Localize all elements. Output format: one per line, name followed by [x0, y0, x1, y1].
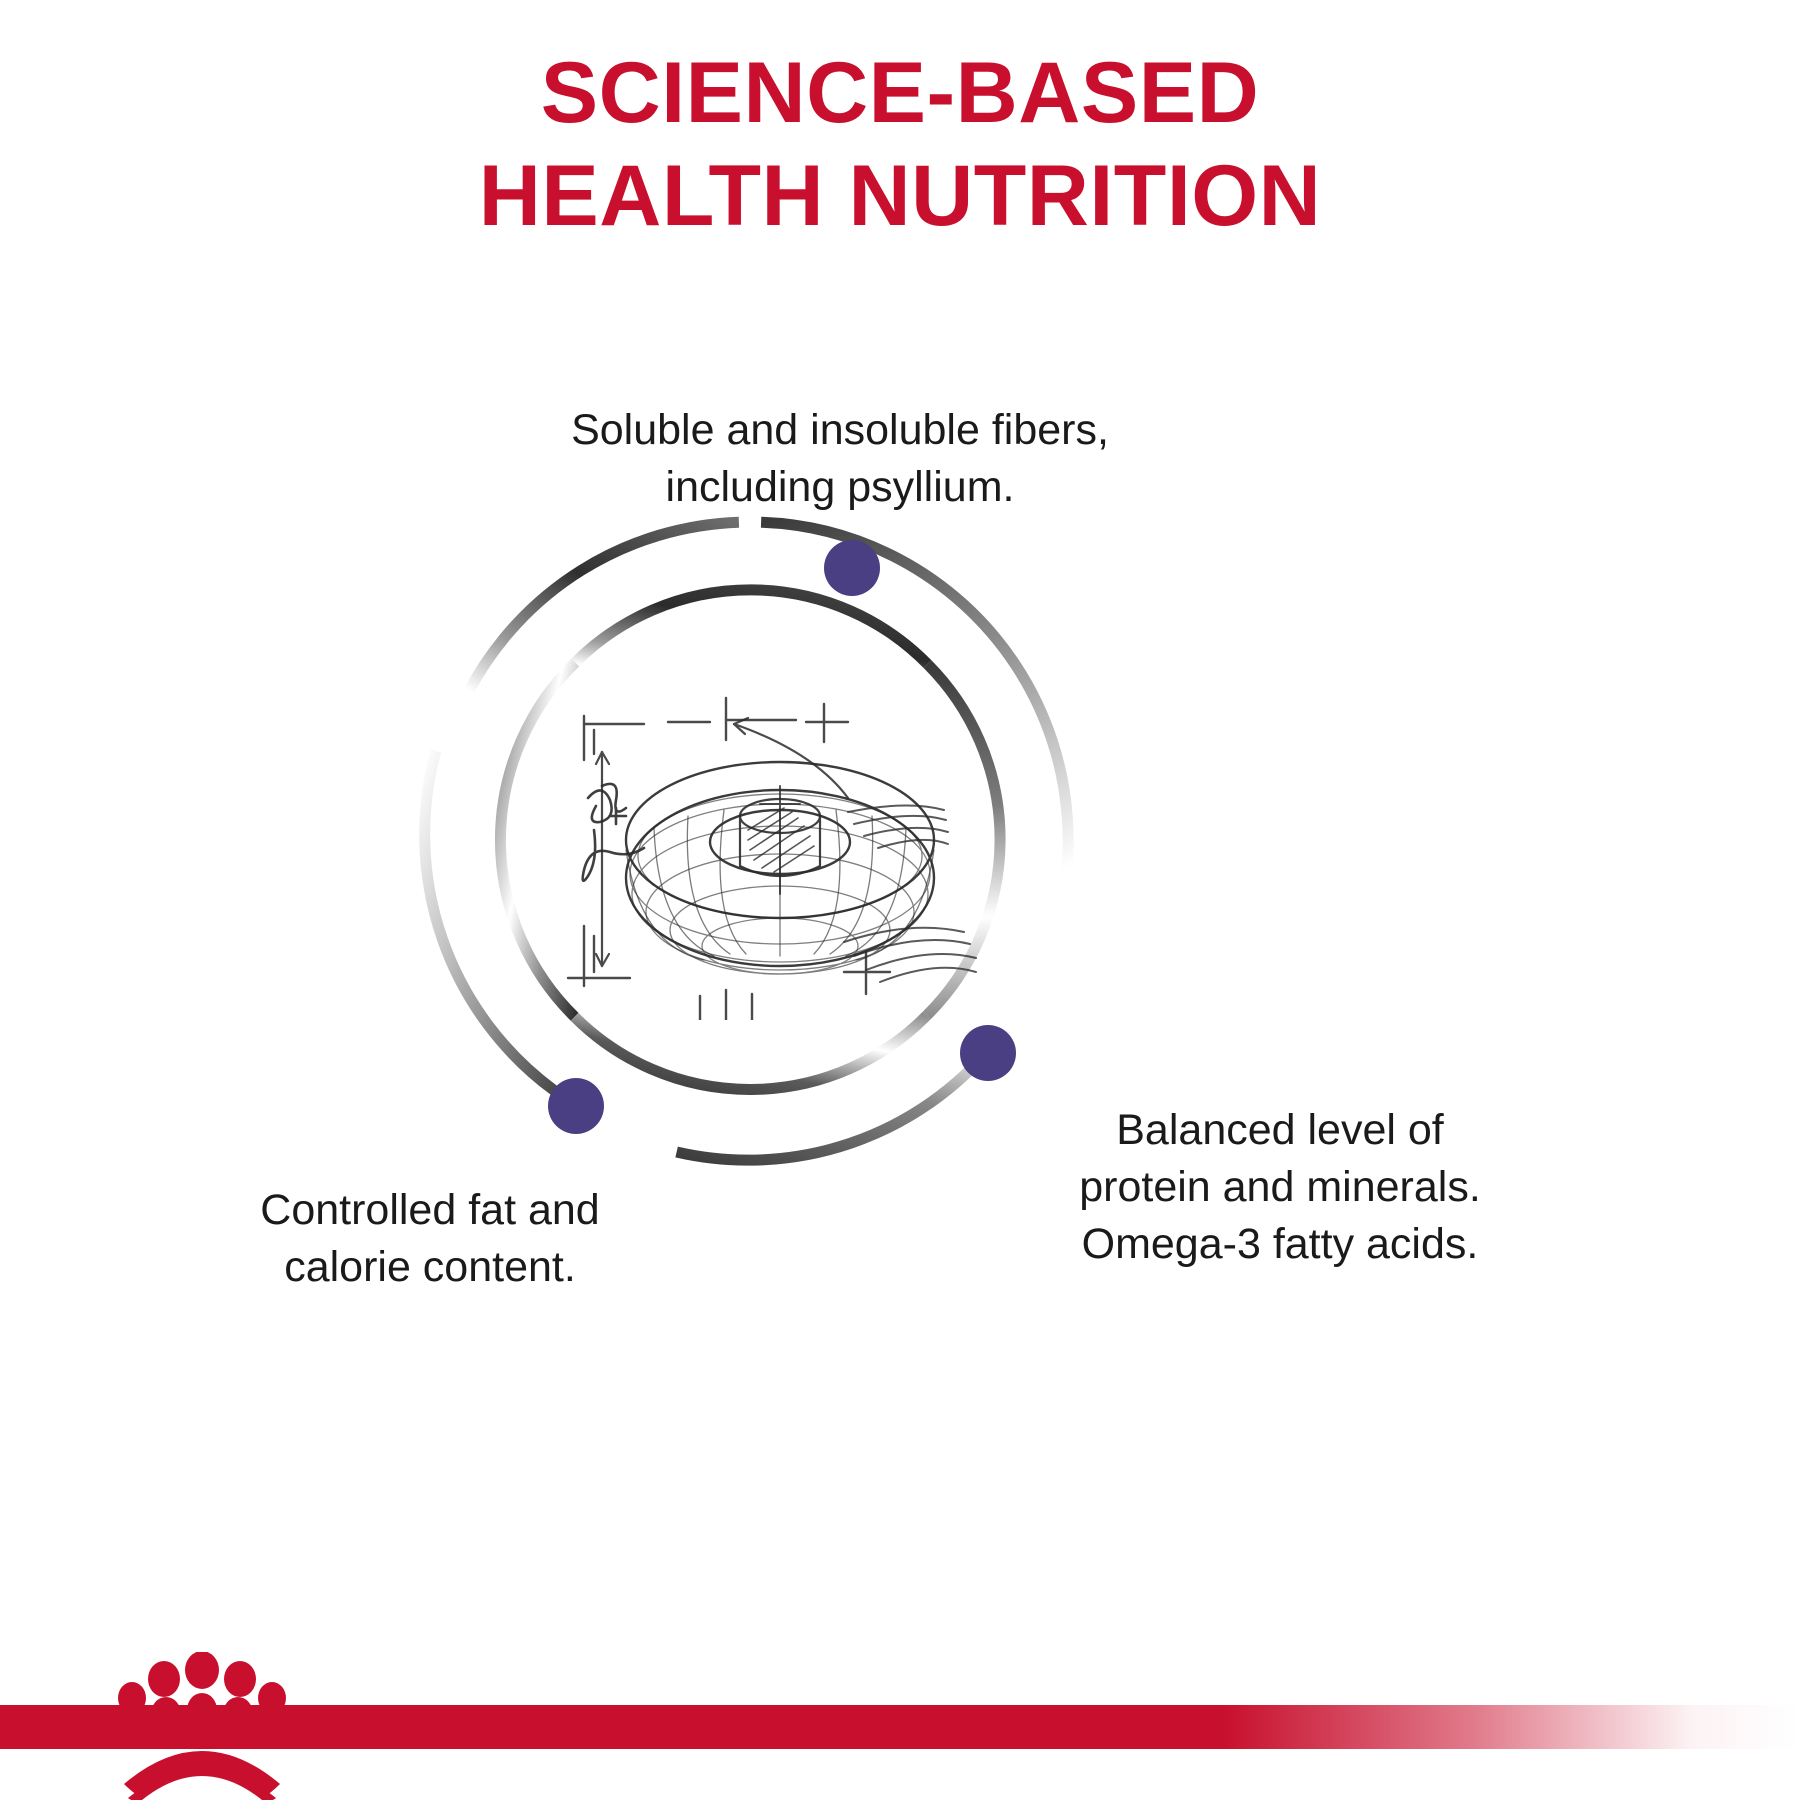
inner-arc-bottom: [575, 1015, 927, 1089]
royal-canin-crown-logo: [112, 1652, 292, 1800]
kibble-technical-sketch: [548, 690, 1018, 1020]
callout-fibers-line-1: Soluble and insoluble fibers,: [470, 402, 1210, 459]
callout-fibers-line-2: including psyllium.: [470, 459, 1210, 516]
callout-fat-line-1: Controlled fat and: [90, 1182, 770, 1239]
inner-arc-top: [575, 590, 927, 664]
callout-fibers: Soluble and insoluble fibers, including …: [470, 402, 1210, 516]
blueprint-marks: [568, 698, 890, 1020]
dimension-leader: [596, 718, 848, 966]
callout-fat: Controlled fat and calorie content.: [90, 1182, 770, 1296]
callout-protein: Balanced level of protein and minerals. …: [1000, 1102, 1560, 1272]
outer-arc-top-left: [469, 522, 739, 690]
outer-arc-left: [425, 751, 555, 1091]
callout-protein-line-1: Balanced level of: [1000, 1102, 1560, 1159]
infographic-stage: Soluble and insoluble fibers, including …: [0, 0, 1800, 1800]
brand-bar-left-cap: [0, 1705, 120, 1749]
callout-protein-line-3: Omega-3 fatty acids.: [1000, 1216, 1560, 1273]
accent-dot-protein: [960, 1025, 1016, 1081]
callout-protein-line-2: protein and minerals.: [1000, 1159, 1560, 1216]
outer-arc-bottom: [677, 1044, 994, 1160]
callout-fat-line-2: calorie content.: [90, 1239, 770, 1296]
accent-dot-fibers: [824, 540, 880, 596]
accent-dot-fat: [548, 1078, 604, 1134]
